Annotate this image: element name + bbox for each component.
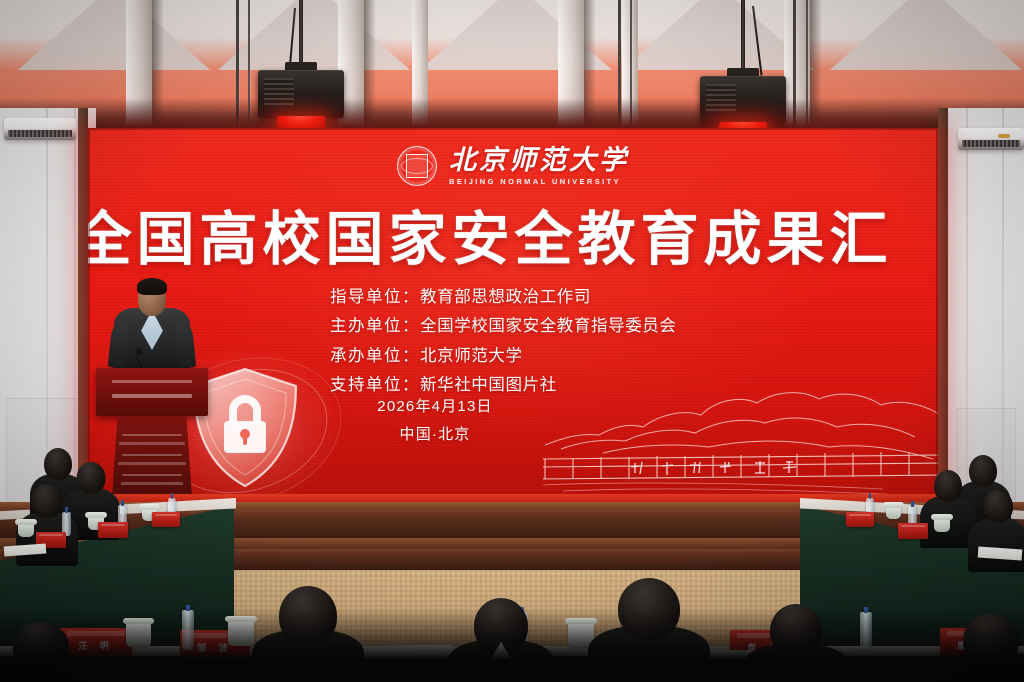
air-conditioner-right [958, 128, 1024, 150]
ceiling-bottom-fade [0, 98, 1024, 132]
speaker-hair [137, 278, 167, 295]
projector-mount-pole [741, 0, 745, 76]
speaker-at-podium [106, 274, 198, 368]
projector-cable [289, 8, 296, 70]
name-placard [846, 512, 874, 527]
name-placard [898, 523, 928, 539]
ceiling-facet [830, 0, 1022, 70]
tea-cup [934, 518, 950, 532]
microphone-head [136, 348, 143, 355]
projector-body [700, 76, 786, 124]
air-conditioner-left [4, 118, 76, 140]
lectern-top [96, 368, 208, 416]
projector-vent [264, 78, 294, 106]
led-stage-screen: 北京师范大学 BEIJING NORMAL UNIVERSITY 全国高校国家安… [88, 128, 938, 498]
ceiling-projector-left [258, 0, 344, 118]
ceiling-facet [18, 0, 210, 70]
tea-cup [886, 506, 901, 519]
ceiling [0, 0, 1024, 132]
right-wall-edge [938, 108, 948, 508]
speaker-arm [174, 321, 197, 369]
projector-cable [752, 6, 763, 76]
name-placard [152, 512, 180, 527]
foreground-shadow [0, 608, 1024, 682]
projector-mount-pole [299, 0, 303, 70]
tea-cup [18, 523, 34, 537]
projector-vent [706, 84, 736, 112]
name-placard [98, 522, 128, 538]
projector-body [258, 70, 344, 118]
ceiling-projector-right [700, 0, 786, 124]
conference-photo: 北京师范大学 BEIJING NORMAL UNIVERSITY 全国高校国家安… [0, 0, 1024, 682]
